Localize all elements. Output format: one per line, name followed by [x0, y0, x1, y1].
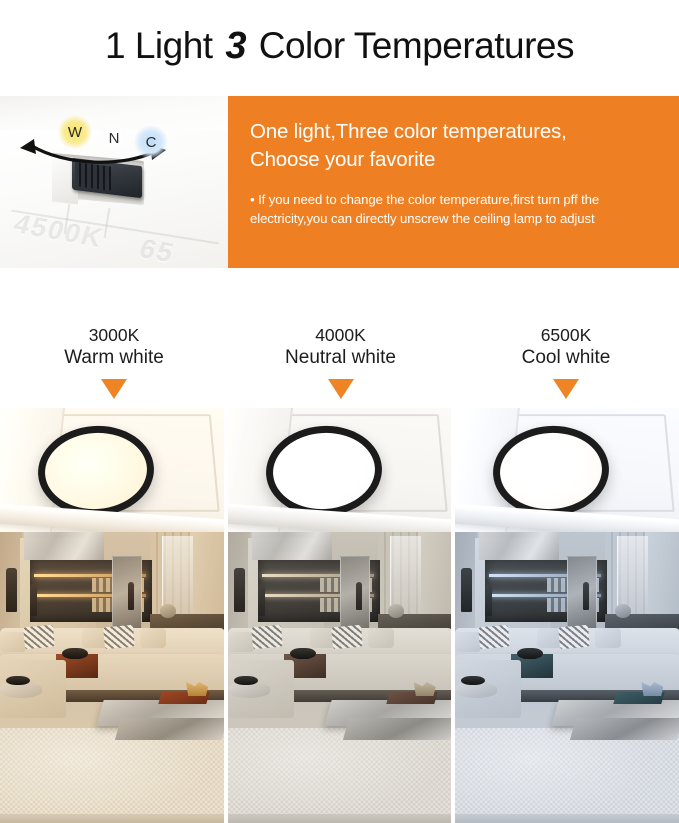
- switch-marking-w: W: [58, 115, 92, 149]
- decor-bowl: [234, 676, 258, 685]
- title-emphasis-number: 3: [222, 25, 249, 67]
- throw-pillow: [455, 632, 481, 652]
- title-part-one: 1 Light: [105, 25, 222, 66]
- marble-artwork: [479, 532, 559, 560]
- down-triangle-icon: [553, 379, 579, 399]
- area-rug: [455, 728, 679, 823]
- coffee-table-lower: [343, 718, 452, 740]
- ceiling: [455, 408, 679, 540]
- room-scene-warm-white: [0, 408, 224, 823]
- room-scene-neutral-white: [228, 408, 452, 823]
- marble-artwork: [24, 532, 104, 560]
- patterned-cushion: [23, 625, 55, 650]
- floor: [228, 814, 452, 823]
- kelvin-value-neutral: 4000K: [315, 324, 366, 346]
- decor-bowl: [517, 648, 543, 659]
- room-interior: [0, 532, 224, 823]
- throw-pillow: [140, 628, 166, 648]
- page-title-text: 1 Light 3 Color Temperatures: [105, 25, 574, 68]
- patterned-cushion: [331, 625, 363, 650]
- marble-artwork: [252, 532, 332, 560]
- comparison-label-warm: 3000K Warm white: [0, 268, 228, 408]
- area-rug: [228, 728, 452, 823]
- decor-statue: [128, 582, 134, 610]
- feature-panel-body: • If you need to change the color temper…: [250, 190, 653, 228]
- feature-band: 4500K 65 W N C One light,Three color tem…: [0, 96, 679, 268]
- comparison-label-neutral: 4000K Neutral white: [228, 268, 453, 408]
- throw-pillow: [228, 632, 254, 652]
- throw-pillow: [368, 628, 394, 648]
- room-interior: [455, 532, 679, 823]
- decor-statue: [485, 584, 492, 616]
- comparison-scene-row: [0, 408, 679, 823]
- tone-name-neutral: Neutral white: [285, 346, 396, 370]
- mirror-panel: [112, 556, 142, 636]
- decor-statue: [583, 582, 589, 610]
- comparison-label-cool: 6500K Cool white: [453, 268, 679, 408]
- kelvin-value-cool: 6500K: [541, 324, 592, 346]
- floor: [0, 814, 224, 823]
- decor-statue: [234, 568, 245, 612]
- ceiling: [228, 408, 452, 540]
- decor-statue: [6, 568, 17, 612]
- switch-marking-n: N: [97, 121, 131, 155]
- mirror-panel: [567, 556, 597, 636]
- decor-bowl: [461, 676, 485, 685]
- throw-pillow: [0, 632, 26, 652]
- down-triangle-icon: [101, 379, 127, 399]
- floor: [455, 814, 679, 823]
- area-rug: [0, 728, 224, 823]
- tone-name-cool: Cool white: [522, 346, 611, 370]
- decor-vase: [160, 604, 176, 618]
- comparison-label-row: 3000K Warm white 4000K Neutral white 650…: [0, 268, 679, 408]
- kelvin-value-warm: 3000K: [89, 324, 140, 346]
- feature-panel-title: One light,Three color temperatures, Choo…: [250, 118, 653, 174]
- decor-bowl: [6, 676, 30, 685]
- decor-statue: [30, 584, 37, 616]
- coffee-table-lower: [115, 718, 224, 740]
- patterned-cushion: [103, 625, 135, 650]
- decor-statue: [461, 568, 472, 612]
- room-interior: [228, 532, 452, 823]
- tone-name-warm: Warm white: [64, 346, 164, 370]
- decor-bowl: [290, 648, 316, 659]
- feature-text-panel: One light,Three color temperatures, Choo…: [228, 96, 679, 268]
- lamp-switch-photo: 4500K 65 W N C: [0, 96, 228, 268]
- down-triangle-icon: [328, 379, 354, 399]
- title-part-two: Color Temperatures: [249, 25, 574, 66]
- patterned-cushion: [251, 625, 283, 650]
- decor-bowl: [62, 648, 88, 659]
- ceiling: [0, 408, 224, 540]
- decor-statue: [258, 584, 265, 616]
- switch-marking-c: C: [134, 125, 168, 159]
- decor-vase: [388, 604, 404, 618]
- mirror-panel: [340, 556, 370, 636]
- decor-statue: [356, 582, 362, 610]
- patterned-cushion: [558, 625, 590, 650]
- throw-pillow: [595, 628, 621, 648]
- room-scene-cool-white: [455, 408, 679, 823]
- coffee-table-lower: [570, 718, 679, 740]
- patterned-cushion: [478, 625, 510, 650]
- page-title: 1 Light 3 Color Temperatures: [0, 0, 679, 92]
